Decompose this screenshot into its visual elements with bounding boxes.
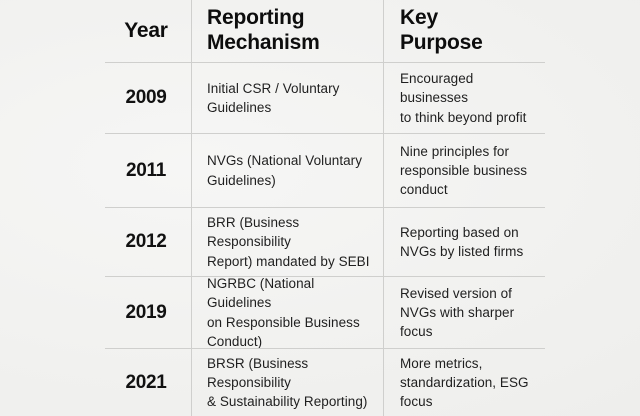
header-cell-key-purpose: Key Purpose <box>383 0 545 62</box>
key-purpose-value: More metrics, standardization, ESG focus <box>400 354 537 411</box>
table-header-row: Year Reporting Mechanism Key Purpose <box>105 0 545 62</box>
reporting-mechanism-value: NGRBC (National Guidelines on Responsibl… <box>207 274 373 351</box>
esg-reporting-timeline-table: Year Reporting Mechanism Key Purpose 200… <box>105 0 545 416</box>
reporting-mechanism-line1: NGRBC (National Guidelines <box>207 274 373 312</box>
header-cell-year: Year <box>105 0 191 62</box>
key-purpose-value: Nine principles for responsible business… <box>400 142 527 199</box>
key-purpose-line1: Nine principles for <box>400 142 527 161</box>
header-label-reporting-mechanism: Reporting Mechanism <box>207 6 320 56</box>
table-row: 2012 BRR (Business Responsibility Report… <box>105 207 545 276</box>
page-background: Year Reporting Mechanism Key Purpose 200… <box>0 0 640 416</box>
table-row: 2009 Initial CSR / Voluntary Guidelines … <box>105 62 545 133</box>
cell-key-purpose: Encouraged businesses to think beyond pr… <box>383 63 545 133</box>
reporting-mechanism-value: BRSR (Business Responsibility & Sustaina… <box>207 354 373 411</box>
key-purpose-line1: Encouraged businesses <box>400 69 537 107</box>
key-purpose-line2: responsible business <box>400 161 527 180</box>
reporting-mechanism-line1: BRSR (Business Responsibility <box>207 354 373 392</box>
header-label-key-purpose-line1: Key <box>400 6 483 31</box>
reporting-mechanism-value: NVGs (National Voluntary Guidelines) <box>207 151 362 189</box>
year-value: 2019 <box>125 302 166 324</box>
key-purpose-value: Reporting based on NVGs by listed firms <box>400 223 523 261</box>
reporting-mechanism-line1: BRR (Business Responsibility <box>207 213 373 251</box>
reporting-mechanism-line2: Guidelines) <box>207 171 362 190</box>
header-label-key-purpose: Key Purpose <box>400 6 483 56</box>
reporting-mechanism-line2: Report) mandated by SEBI <box>207 252 373 271</box>
year-value: 2021 <box>125 372 166 394</box>
cell-reporting-mechanism: NVGs (National Voluntary Guidelines) <box>191 134 383 207</box>
cell-key-purpose: Reporting based on NVGs by listed firms <box>383 208 545 276</box>
year-value: 2011 <box>126 160 166 182</box>
key-purpose-line3: conduct <box>400 180 527 199</box>
cell-reporting-mechanism: BRR (Business Responsibility Report) man… <box>191 208 383 276</box>
header-label-key-purpose-line2: Purpose <box>400 31 483 56</box>
cell-year: 2009 <box>105 63 191 133</box>
reporting-mechanism-line2: Guidelines <box>207 98 339 117</box>
reporting-mechanism-line1: NVGs (National Voluntary <box>207 151 362 170</box>
header-label-reporting-mechanism-line1: Reporting <box>207 6 320 31</box>
key-purpose-value: Encouraged businesses to think beyond pr… <box>400 69 537 126</box>
key-purpose-line2: NVGs by listed firms <box>400 242 523 261</box>
key-purpose-line2: NVGs with sharper focus <box>400 303 537 341</box>
key-purpose-line1: Reporting based on <box>400 223 523 242</box>
reporting-mechanism-line2: & Sustainability Reporting) <box>207 392 373 411</box>
header-label-year: Year <box>124 19 168 43</box>
cell-year: 2019 <box>105 277 191 348</box>
reporting-mechanism-line1: Initial CSR / Voluntary <box>207 79 339 98</box>
header-cell-reporting-mechanism: Reporting Mechanism <box>191 0 383 62</box>
key-purpose-line1: Revised version of <box>400 284 537 303</box>
header-label-reporting-mechanism-line2: Mechanism <box>207 31 320 56</box>
cell-key-purpose: Revised version of NVGs with sharper foc… <box>383 277 545 348</box>
key-purpose-line2: standardization, ESG focus <box>400 373 537 411</box>
table-row: 2011 NVGs (National Voluntary Guidelines… <box>105 133 545 207</box>
cell-reporting-mechanism: NGRBC (National Guidelines on Responsibl… <box>191 277 383 348</box>
cell-key-purpose: More metrics, standardization, ESG focus <box>383 349 545 416</box>
cell-reporting-mechanism: Initial CSR / Voluntary Guidelines <box>191 63 383 133</box>
year-value: 2012 <box>125 231 166 253</box>
key-purpose-line2: to think beyond profit <box>400 108 537 127</box>
cell-year: 2021 <box>105 349 191 416</box>
table-row: 2019 NGRBC (National Guidelines on Respo… <box>105 276 545 348</box>
reporting-mechanism-value: BRR (Business Responsibility Report) man… <box>207 213 373 270</box>
reporting-mechanism-value: Initial CSR / Voluntary Guidelines <box>207 79 339 117</box>
cell-year: 2012 <box>105 208 191 276</box>
cell-reporting-mechanism: BRSR (Business Responsibility & Sustaina… <box>191 349 383 416</box>
cell-key-purpose: Nine principles for responsible business… <box>383 134 545 207</box>
key-purpose-value: Revised version of NVGs with sharper foc… <box>400 284 537 341</box>
reporting-mechanism-line2: on Responsible Business <box>207 313 373 332</box>
table-row: 2021 BRSR (Business Responsibility & Sus… <box>105 348 545 416</box>
key-purpose-line1: More metrics, <box>400 354 537 373</box>
year-value: 2009 <box>125 87 166 109</box>
cell-year: 2011 <box>105 134 191 207</box>
